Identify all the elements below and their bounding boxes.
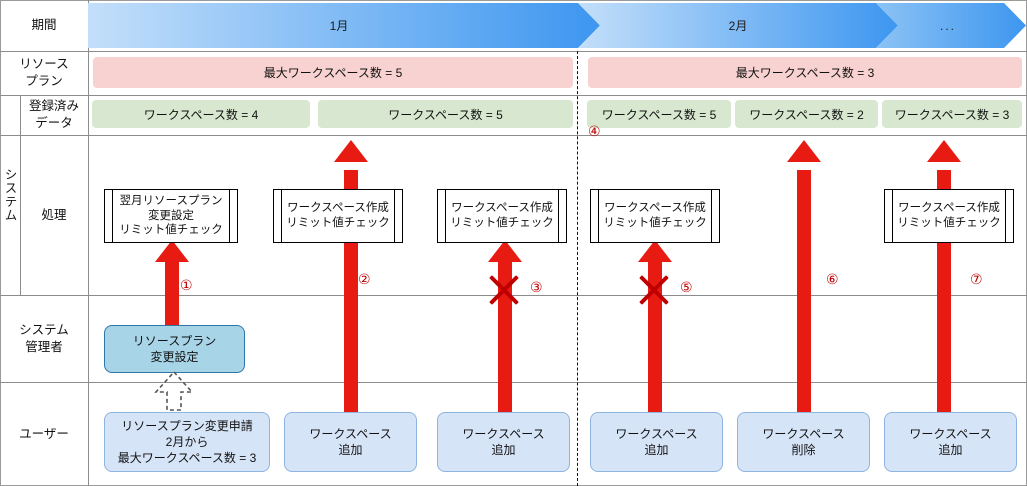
resource-plan-bar-january-label: 最大ワークスペース数 = 5 <box>264 64 403 81</box>
flow-arrow-1-shaft <box>165 262 179 330</box>
registered-data-bar-1-label: ワークスペース数 = 4 <box>144 106 259 123</box>
process-box-5-label: ワークスペース作成 リミット値チェック <box>887 201 1011 231</box>
step-marker-4-label: ④ <box>588 123 601 139</box>
period-chevron-january-label: 1月 <box>330 17 349 34</box>
row-label-period: 期間 <box>0 0 88 51</box>
process-box-1: 翌月リソースプラン 変更設定 リミット値チェック <box>104 189 238 243</box>
row-label-user: ユーザー <box>0 382 88 486</box>
step-marker-7-label: ⑦ <box>970 271 983 287</box>
step-marker-1-label: ① <box>180 277 193 293</box>
flow-arrow-6-head <box>787 140 821 172</box>
row-label-resource-plan: リソース プラン <box>0 51 88 95</box>
period-chevron-more-label: ... <box>940 19 956 33</box>
flow-arrow-6-shaft <box>797 170 811 420</box>
registered-data-bar-5: ワークスペース数 = 3 <box>882 100 1022 128</box>
admin-action-box-1[interactable]: リソースプラン 変更設定 <box>104 325 245 373</box>
process-box-2-label: ワークスペース作成 リミット値チェック <box>276 201 400 231</box>
flow-arrow-7-head <box>927 140 961 172</box>
step-marker-2-label: ② <box>358 271 371 287</box>
step-marker-6: ⑥ <box>826 272 839 286</box>
user-action-box-6[interactable]: ワークスペース 追加 <box>884 412 1017 472</box>
process-box-5: ワークスペース作成 リミット値チェック <box>884 189 1014 243</box>
flow-arrow-1-head <box>155 240 189 264</box>
row-label-resource-plan-text: リソース プラン <box>19 56 68 90</box>
row-divider-resource-plan <box>0 95 1027 96</box>
registered-data-bar-3: ワークスペース数 = 5 <box>587 100 731 128</box>
process-box-3: ワークスペース作成 リミット値チェック <box>437 189 567 243</box>
registered-data-bar-1: ワークスペース数 = 4 <box>92 100 310 128</box>
process-box-4-label: ワークスペース作成 リミット値チェック <box>593 201 717 231</box>
row-label-system: システム <box>0 95 20 295</box>
period-chevron-february-label: 2月 <box>729 17 748 34</box>
registered-data-bar-5-label: ワークスペース数 = 3 <box>895 106 1010 123</box>
row-label-system-text: システム <box>1 168 20 222</box>
step-marker-5-label: ⑤ <box>680 279 693 295</box>
user-action-box-5[interactable]: ワークスペース 削除 <box>737 412 870 472</box>
period-chevron-january: 1月 <box>88 3 600 48</box>
registered-data-bar-4: ワークスペース数 = 2 <box>735 100 878 128</box>
resource-plan-bar-february-label: 最大ワークスペース数 = 3 <box>736 64 875 81</box>
step-marker-4: ④ <box>588 124 601 138</box>
process-box-1-label: 翌月リソースプラン 変更設定 リミット値チェック <box>109 194 233 239</box>
step-marker-1: ① <box>180 278 193 292</box>
user-action-box-3[interactable]: ワークスペース 追加 <box>437 412 570 472</box>
user-action-box-2[interactable]: ワークスペース 追加 <box>284 412 417 472</box>
step-marker-2: ② <box>358 272 371 286</box>
row-label-registered-data-text: 登録済み データ <box>29 98 79 132</box>
step-marker-3-label: ③ <box>530 279 543 295</box>
row-divider-period <box>0 51 1027 52</box>
period-chevron-february: 2月 <box>578 3 898 48</box>
user-action-box-6-label: ワークスペース 追加 <box>909 426 991 458</box>
row-label-process-text: 処理 <box>41 207 66 224</box>
process-box-4: ワークスペース作成 リミット値チェック <box>590 189 720 243</box>
resource-plan-bar-february: 最大ワークスペース数 = 3 <box>588 57 1022 88</box>
diagram-canvas: 期間 リソース プラン システム 登録済み データ 処理 システム 管理者 ユー… <box>0 0 1027 486</box>
user-action-box-4[interactable]: ワークスペース 追加 <box>590 412 723 472</box>
row-label-user-text: ユーザー <box>19 426 69 443</box>
flow-arrow-3-head <box>488 240 522 264</box>
row-label-period-text: 期間 <box>31 17 56 34</box>
request-dashed-arrow-icon <box>148 370 200 412</box>
blocked-marker-5 <box>637 273 671 307</box>
step-marker-6-label: ⑥ <box>826 271 839 287</box>
resource-plan-bar-january: 最大ワークスペース数 = 5 <box>93 57 573 88</box>
step-marker-7: ⑦ <box>970 272 983 286</box>
registered-data-bar-2: ワークスペース数 = 5 <box>318 100 573 128</box>
user-action-box-4-label: ワークスペース 追加 <box>615 426 697 458</box>
admin-action-box-1-label: リソースプラン 変更設定 <box>133 333 216 365</box>
row-label-system-admin: システム 管理者 <box>0 295 88 382</box>
registered-data-bar-2-label: ワークスペース数 = 5 <box>388 106 503 123</box>
label-column-divider <box>88 0 89 486</box>
user-action-box-1-label: リソースプラン変更申請 2月から 最大ワークスペース数 = 3 <box>118 418 257 467</box>
step-marker-5: ⑤ <box>680 280 693 294</box>
flow-arrow-2-head <box>334 140 368 172</box>
user-action-box-2-label: ワークスペース 追加 <box>309 426 391 458</box>
user-action-box-3-label: ワークスペース 追加 <box>462 426 544 458</box>
user-action-box-5-label: ワークスペース 削除 <box>762 426 844 458</box>
process-box-2: ワークスペース作成 リミット値チェック <box>273 189 403 243</box>
row-label-registered-data: 登録済み データ <box>20 95 88 135</box>
blocked-marker-3 <box>487 273 521 307</box>
registered-data-bar-3-label: ワークスペース数 = 5 <box>602 106 717 123</box>
step-marker-3: ③ <box>530 280 543 294</box>
month-boundary-divider <box>577 51 578 486</box>
row-label-system-admin-text: システム 管理者 <box>19 322 69 356</box>
user-action-box-1[interactable]: リソースプラン変更申請 2月から 最大ワークスペース数 = 3 <box>104 412 270 472</box>
period-chevron-more: ... <box>876 3 1026 48</box>
row-label-process: 処理 <box>20 135 88 295</box>
registered-data-bar-4-label: ワークスペース数 = 2 <box>749 106 864 123</box>
process-box-3-label: ワークスペース作成 リミット値チェック <box>440 201 564 231</box>
flow-arrow-5-head <box>638 240 672 264</box>
row-divider-registered-data <box>0 135 1027 136</box>
